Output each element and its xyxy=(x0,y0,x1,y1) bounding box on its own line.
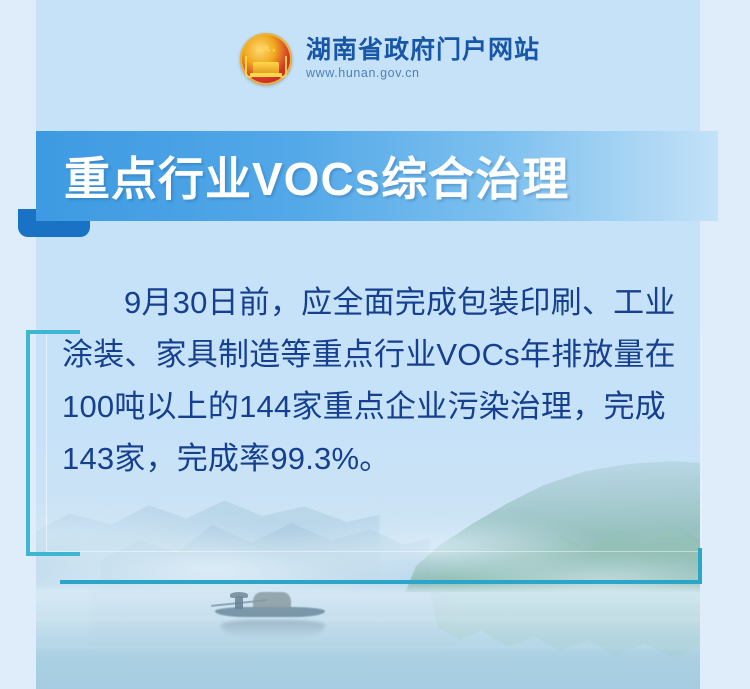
decorative-bracket-bottom-right xyxy=(60,548,702,584)
site-name: 湖南省政府门户网站 xyxy=(306,37,540,65)
ribbon-bar: 重点行业VOCs综合治理 xyxy=(36,131,718,221)
page-title: 重点行业VOCs综合治理 xyxy=(64,143,569,209)
site-title-group: 湖南省政府门户网站 www.hunan.gov.cn xyxy=(306,37,540,81)
poster-root: ★ ★★★★ 湖南省政府门户网站 www.hunan.gov.cn 重点行业VO… xyxy=(0,0,750,689)
water-streak xyxy=(0,646,750,648)
water-streak xyxy=(0,618,750,620)
emblem-tiananmen-gate xyxy=(253,62,279,73)
boatman-icon xyxy=(205,586,335,626)
title-ribbon: 重点行业VOCs综合治理 xyxy=(18,131,718,231)
emblem-arc-stars: ★★★★ xyxy=(255,49,277,54)
site-header: ★ ★★★★ 湖南省政府门户网站 www.hunan.gov.cn xyxy=(240,33,540,85)
boat-reflection xyxy=(221,620,325,638)
boatman-hat xyxy=(230,592,248,598)
site-url: www.hunan.gov.cn xyxy=(306,67,540,81)
boat-canopy xyxy=(253,592,291,609)
body-paragraph: 9月30日前，应全面完成包装印刷、工业涂装、家具制造等重点行业VOCs年排放量在… xyxy=(62,277,686,485)
china-national-emblem-icon: ★ ★★★★ xyxy=(240,33,292,85)
